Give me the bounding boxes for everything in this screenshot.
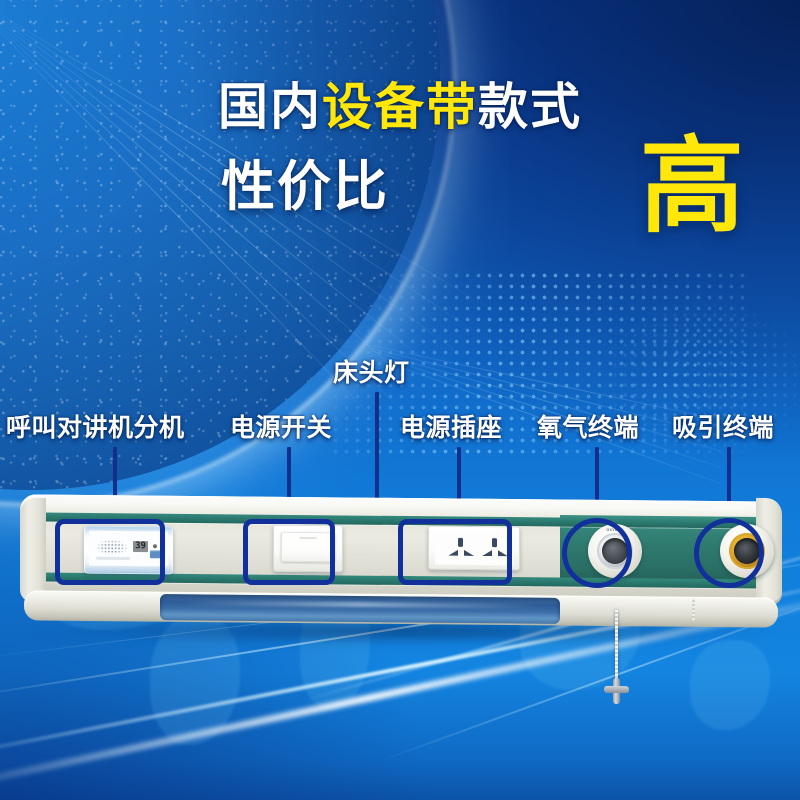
suction-terminal-port[interactable] <box>734 538 760 564</box>
callout-label-power-switch: 电源开关 <box>230 413 332 443</box>
intercom-faceplate: 39 <box>89 531 168 567</box>
pull-cord-handle-horizontal <box>604 686 629 693</box>
power-switch-device[interactable] <box>273 525 343 573</box>
socket-outlet-2[interactable] <box>479 538 511 560</box>
socket-faceplate <box>435 531 513 566</box>
headline-accent: 设备带 <box>322 78 478 136</box>
callout-label-power-socket: 电源插座 <box>400 413 502 443</box>
socket-slot-left-icon <box>482 550 492 556</box>
belt-end-cap-left <box>20 498 46 602</box>
oxygen-terminal-port[interactable] <box>602 538 628 564</box>
pull-cord-handle[interactable] <box>604 678 629 704</box>
intercom-led-indicator <box>153 544 157 548</box>
intercom-slot <box>96 557 130 560</box>
belt-blue-light-channel <box>160 594 560 624</box>
headline-part-2: 款式 <box>478 78 582 136</box>
cord-seam <box>692 598 695 622</box>
nurse-call-pull-cord[interactable] <box>615 610 618 682</box>
product-banner-image: 国内设备带款式 性价比 高 呼叫对讲机分机 电源开关 床头灯 电源插座 氧气终端… <box>0 0 800 800</box>
socket-pin-icon <box>458 538 463 547</box>
socket-slot-right-icon <box>498 550 508 556</box>
nurse-call-intercom[interactable]: 39 <box>84 526 173 575</box>
socket-pin-icon <box>492 538 497 547</box>
callout-label-suction-outlet: 吸引终端 <box>672 413 774 443</box>
switch-rocker[interactable] <box>281 532 335 563</box>
intercom-call-button[interactable] <box>150 550 162 558</box>
callout-label-bed-lamp: 床头灯 <box>333 358 410 388</box>
headline-block: 国内设备带款式 性价比 高 <box>0 78 800 248</box>
oxygen-terminal[interactable]: OXYGEN <box>588 524 642 579</box>
socket-outlet-1[interactable] <box>445 538 477 560</box>
socket-slot-left-icon <box>448 550 458 556</box>
oxygen-terminal-ring-text: OXYGEN <box>588 528 642 533</box>
power-socket-device[interactable] <box>428 526 520 571</box>
headline-highlight: 高 <box>640 130 746 242</box>
medical-equipment-belt: 39 <box>20 498 782 634</box>
speaker-grille-icon <box>97 540 127 555</box>
headline-part-1: 国内 <box>218 78 322 136</box>
socket-slot-right-icon <box>464 550 474 556</box>
decorative-line-fan-mid <box>300 330 720 500</box>
callout-label-oxygen-outlet: 氧气终端 <box>537 413 639 443</box>
callout-label-intercom: 呼叫对讲机分机 <box>6 413 185 443</box>
suction-terminal[interactable] <box>720 524 774 579</box>
intercom-display: 39 <box>133 541 148 552</box>
